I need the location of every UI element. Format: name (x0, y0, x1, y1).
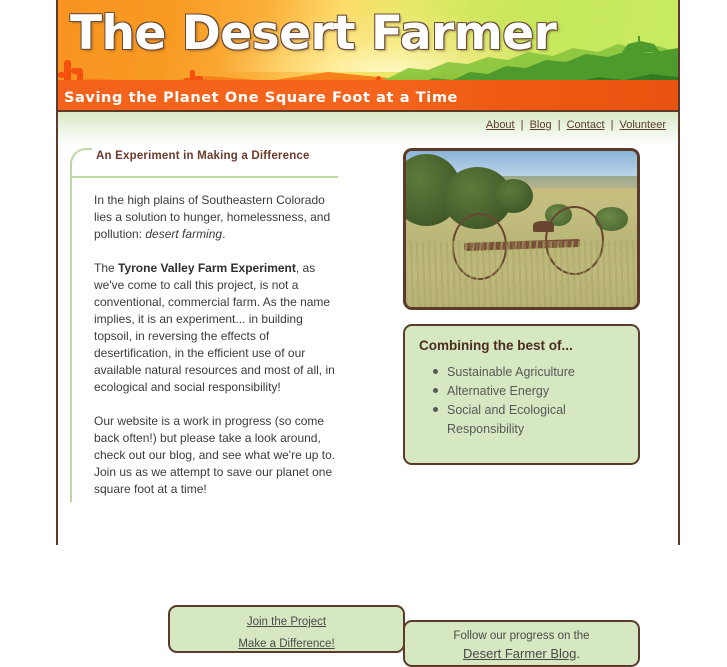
main-content: An Experiment in Making a Difference In … (58, 146, 678, 547)
list-item: Alternative Energy (447, 382, 626, 401)
tab-curve-decoration (70, 148, 92, 182)
list-item-label: Alternative Energy (447, 384, 549, 398)
section-tab: An Experiment in Making a Difference (70, 146, 362, 172)
intro-paragraph-3: Our website is a work in progress (so co… (94, 413, 338, 498)
paragraph-text: The (94, 261, 118, 275)
combining-the-best-box: Combining the best of... Sustainable Agr… (403, 324, 640, 465)
intro-paragraph-1: In the high plains of Southeastern Color… (94, 192, 338, 243)
primary-nav: About | Blog | Contact | Volunteer (486, 119, 666, 131)
list-item-label: Social and Ecological Responsibility (447, 403, 566, 436)
nav-link-blog[interactable]: Blog (530, 119, 552, 131)
farm-photo (403, 148, 640, 310)
bullet-icon (433, 369, 438, 374)
under-banner-strip: About | Blog | Contact | Volunteer (58, 112, 678, 146)
paragraph-text: Our website is a work in progress (so co… (94, 414, 335, 496)
combining-box-title: Combining the best of... (419, 338, 626, 353)
join-project-box: Join the Project Make a Difference! (168, 605, 405, 653)
page-frame: The Desert Farmer Saving the Planet One … (56, 0, 680, 545)
project-name: Tyrone Valley Farm Experiment (118, 261, 296, 275)
blog-box-link-line: Desert Farmer Blog. (405, 646, 638, 661)
bullet-icon (433, 388, 438, 393)
paragraph-text: . (222, 227, 225, 241)
nav-link-contact[interactable]: Contact (567, 119, 605, 131)
blog-box-text: Follow our progress on the (405, 629, 638, 643)
list-item: Social and Ecological Responsibility (447, 401, 626, 439)
desert-farmer-blog-link[interactable]: Desert Farmer Blog (463, 646, 576, 661)
blog-box-period: . (576, 646, 580, 661)
nav-separator: | (518, 119, 527, 131)
make-a-difference-link[interactable]: Make a Difference! (170, 637, 403, 651)
join-the-project-link[interactable]: Join the Project (170, 615, 403, 629)
nav-link-about[interactable]: About (486, 119, 515, 131)
page-title: An Experiment in Making a Difference (70, 146, 362, 162)
site-tagline: Saving the Planet One Square Foot at a T… (64, 90, 458, 106)
left-column: An Experiment in Making a Difference In … (70, 146, 362, 502)
paragraph-text: , as we've come to call this project, is… (94, 261, 335, 394)
nav-separator: | (555, 119, 564, 131)
combining-box-list: Sustainable Agriculture Alternative Ener… (419, 363, 626, 439)
intro-text-panel: In the high plains of Southeastern Color… (70, 176, 338, 502)
bullet-icon (433, 407, 438, 412)
site-title: The Desert Farmer (70, 6, 556, 61)
photo-hay-rake-seat (533, 221, 554, 232)
blog-follow-box: Follow our progress on the Desert Farmer… (403, 620, 640, 667)
list-item: Sustainable Agriculture (447, 363, 626, 382)
site-banner: The Desert Farmer Saving the Planet One … (58, 0, 678, 112)
nav-link-volunteer[interactable]: Volunteer (620, 119, 666, 131)
nav-separator: | (608, 119, 617, 131)
intro-paragraph-2: The Tyrone Valley Farm Experiment, as we… (94, 260, 338, 396)
paragraph-emphasis: desert farming (145, 227, 222, 241)
list-item-label: Sustainable Agriculture (447, 365, 575, 379)
photo-grass-texture (406, 241, 637, 307)
